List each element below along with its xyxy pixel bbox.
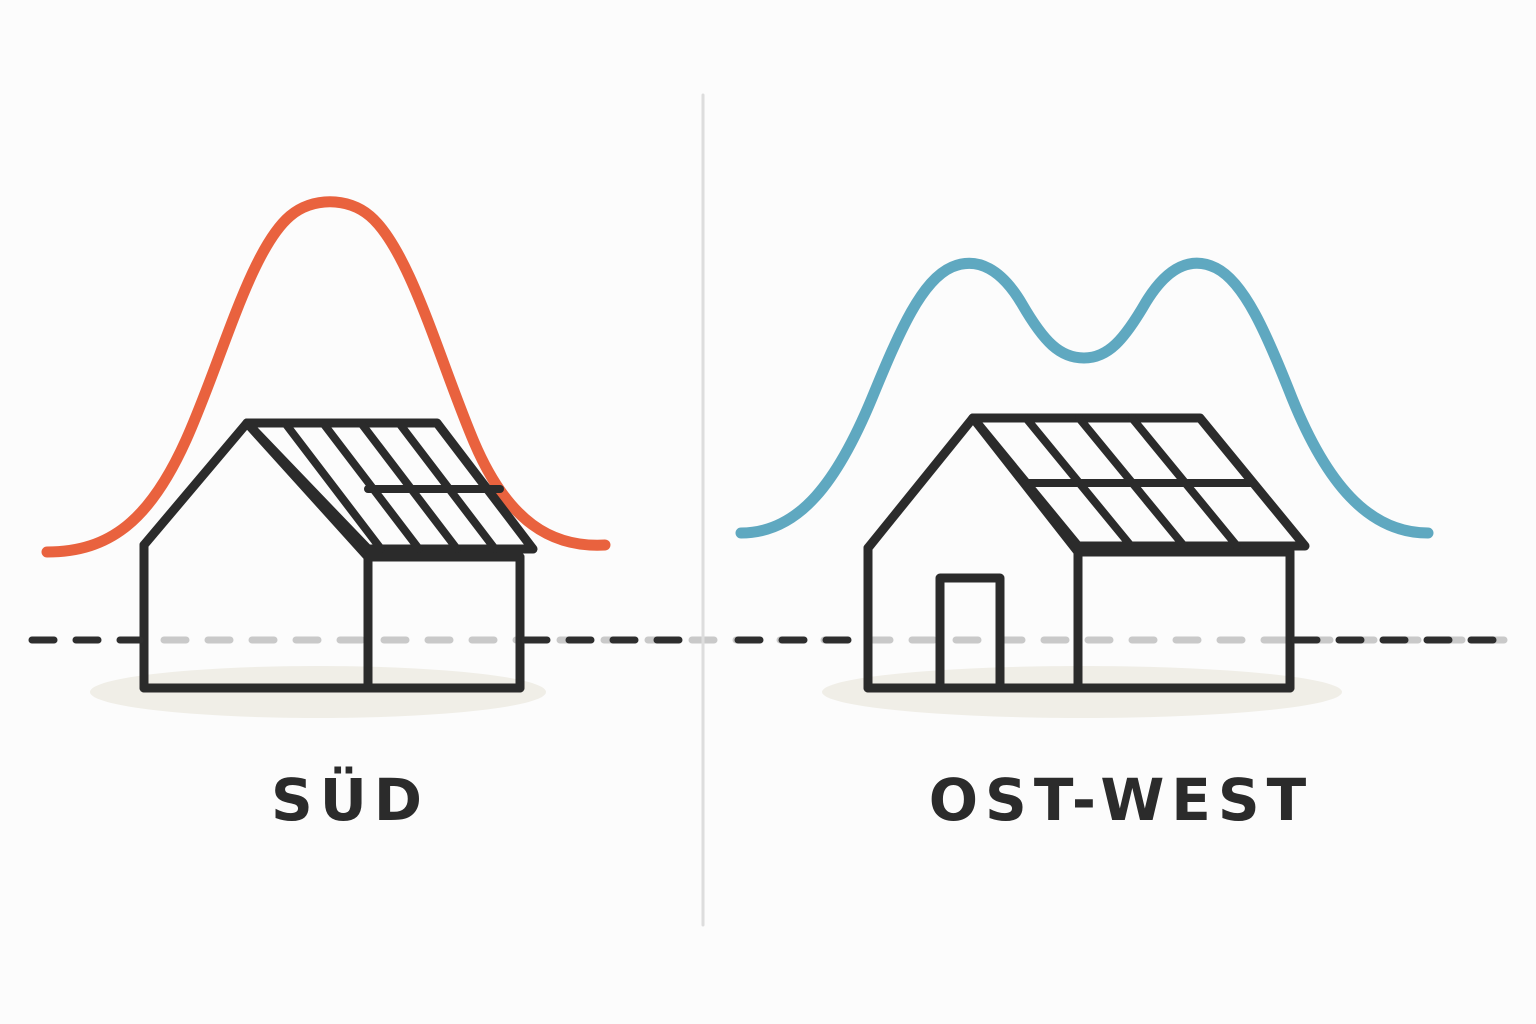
house-gable-left-slope bbox=[868, 418, 973, 548]
figure-root: SÜD OST-WEST bbox=[0, 0, 1536, 1024]
panel-label-ost-west: OST-WEST bbox=[706, 766, 1536, 834]
house-east-west-orientation bbox=[868, 418, 1305, 688]
panel-label-sued: SÜD bbox=[0, 766, 700, 834]
house-south-orientation bbox=[144, 423, 533, 688]
comparison-illustration bbox=[0, 0, 1536, 1024]
solar-panel-strips-left bbox=[285, 423, 500, 549]
